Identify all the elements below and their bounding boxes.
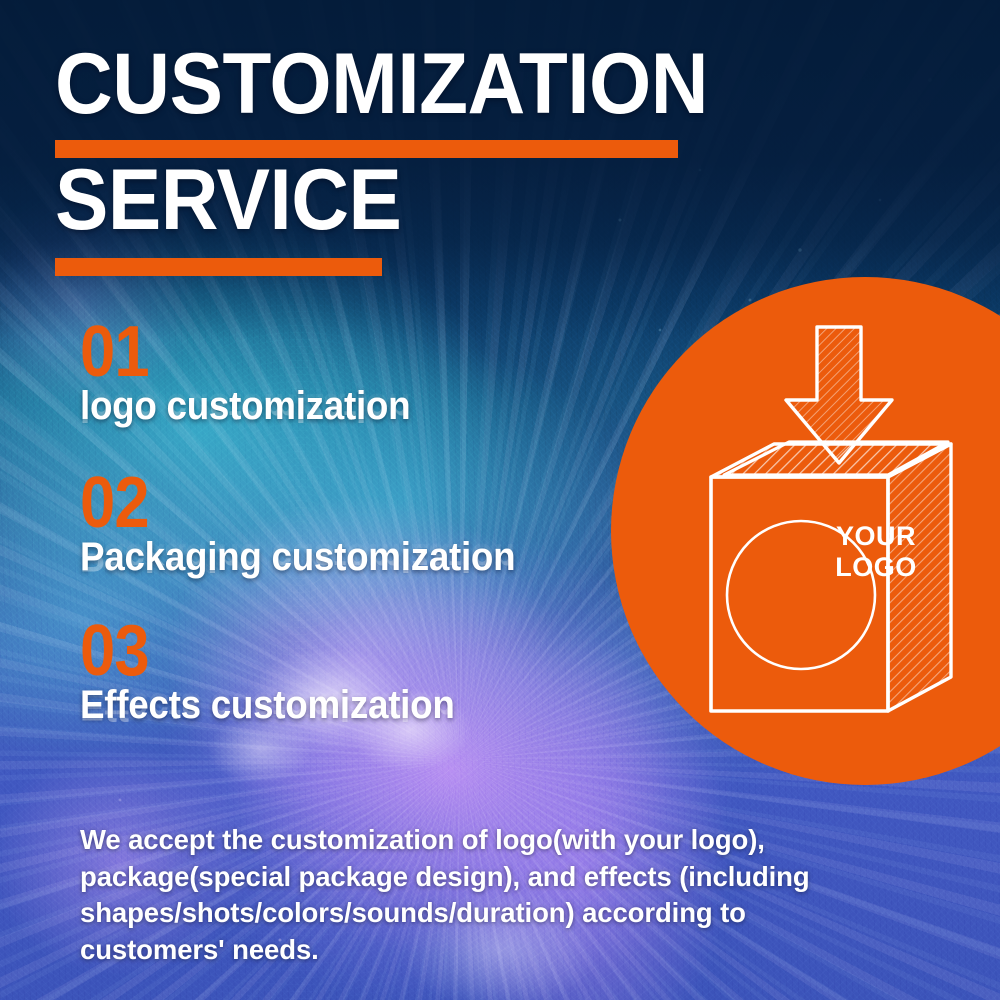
item-number-02: 02 — [80, 473, 626, 535]
box-with-down-arrow-icon: YOUR LOGO — [611, 277, 1000, 785]
list-item-03: 03 Effects customization Effects customi… — [80, 621, 700, 726]
headline-underline-bar-2 — [55, 258, 382, 276]
item-label-wrap-03: Effects customization Effects customizat… — [80, 685, 700, 726]
banner-canvas: CUSTOMIZATION SERVICE 01 logo customizat… — [0, 0, 1000, 1000]
headline-line-1: CUSTOMIZATION — [55, 44, 725, 126]
item-label-02: Packaging customization — [80, 537, 650, 578]
item-label-wrap-01: logo customization logo customization — [80, 386, 700, 427]
box-right-face — [888, 444, 951, 711]
headline-line-2-row: SERVICE — [55, 160, 775, 242]
headline-line-1-row: CUSTOMIZATION — [55, 44, 775, 126]
logo-placeholder-circle — [727, 521, 875, 669]
item-label-03: Effects customization — [80, 685, 650, 726]
box-front-face — [711, 477, 888, 711]
item-label-01: logo customization — [80, 386, 650, 427]
service-items-list: 01 logo customization logo customization… — [80, 322, 700, 726]
list-item-02: 02 Packaging customization Packaging cus… — [80, 473, 700, 578]
item-number-03: 03 — [80, 621, 626, 683]
item-number-01: 01 — [80, 322, 626, 384]
item-label-wrap-02: Packaging customization Packaging custom… — [80, 537, 700, 578]
headline-block: CUSTOMIZATION SERVICE — [55, 44, 775, 241]
list-item-01: 01 logo customization logo customization — [80, 322, 700, 427]
headline-line-2: SERVICE — [55, 160, 725, 242]
description-paragraph: We accept the customization of logo(with… — [80, 822, 860, 968]
